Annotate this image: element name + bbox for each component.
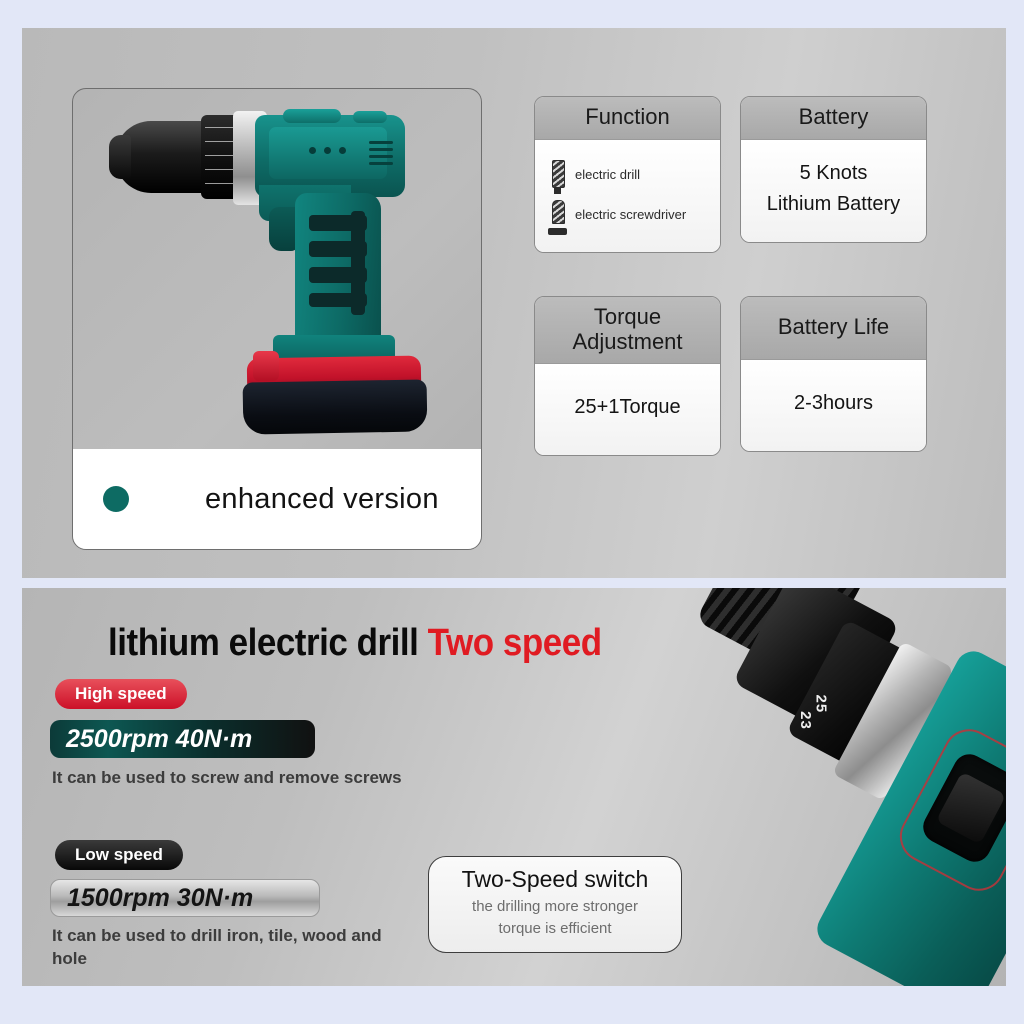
torque-value: 25+1Torque [543, 392, 712, 423]
infographic-canvas: enhanced version Function electric drill [0, 0, 1024, 1024]
drill-body-top-ridge [283, 109, 341, 123]
battery-value-line-2: Lithium Battery [749, 189, 918, 220]
two-speed-callout: Two-Speed switch the drilling more stron… [428, 856, 682, 953]
function-label-screwdriver: electric screwdriver [575, 207, 686, 222]
drill-bit-icon [549, 160, 565, 190]
low-speed-spec-pill: 1500rpm 30N·m [50, 879, 320, 917]
spec-card-battery[interactable]: Battery 5 Knots Lithium Battery [740, 96, 927, 243]
version-badge-dot [103, 486, 129, 512]
low-speed-badge: Low speed [55, 840, 183, 870]
battery-value-line-1: 5 Knots [749, 158, 918, 189]
spec-card-battery-life[interactable]: Battery Life 2-3hours [740, 296, 927, 452]
callout-subtitle-line2: torque is efficient [439, 918, 671, 940]
function-label-drill: electric drill [575, 167, 640, 182]
headline-black-text: lithium electric drill [108, 622, 428, 664]
headline-red-text: Two speed [428, 622, 602, 664]
spec-card-torque-title: Torque Adjustment [535, 297, 720, 364]
spec-card-torque-title-line2: Adjustment [572, 329, 682, 354]
cordless-drill-illustration [73, 89, 481, 449]
function-row-screwdriver: electric screwdriver [549, 200, 710, 230]
top-panel: enhanced version Function electric drill [22, 28, 1006, 578]
version-badge-label: enhanced version [205, 483, 439, 516]
spec-card-battery-life-title: Battery Life [741, 297, 926, 360]
spec-card-battery-body: 5 Knots Lithium Battery [741, 140, 926, 242]
spec-card-battery-life-body: 2-3hours [741, 360, 926, 451]
spec-card-function-title: Function [535, 97, 720, 140]
spec-card-function[interactable]: Function electric drill electric screwdr… [534, 96, 721, 253]
product-photo-card: enhanced version [72, 88, 482, 550]
product-photo [73, 89, 481, 449]
callout-title: Two-Speed switch [439, 866, 671, 893]
high-speed-description: It can be used to screw and remove screw… [52, 767, 402, 790]
low-speed-description: It can be used to drill iron, tile, wood… [52, 925, 402, 971]
spec-card-torque-title-line1: Torque [594, 304, 661, 329]
high-speed-badge: High speed [55, 679, 187, 709]
drill-vent-slots [369, 141, 395, 167]
spec-card-torque-body: 25+1Torque [535, 364, 720, 455]
screwdriver-bit-icon [549, 200, 565, 230]
drill-chuck-tip [109, 135, 131, 179]
dial-mark-23: 23 [797, 711, 814, 730]
drill-grip-spine [351, 211, 365, 315]
spec-card-function-body: electric drill electric screwdriver [535, 140, 720, 252]
drill-vent-dots [309, 147, 355, 155]
dial-mark-25: 25 [813, 695, 830, 714]
high-speed-spec-pill: 2500rpm 40N·m [50, 720, 315, 758]
callout-subtitle-line1: the drilling more stronger [439, 896, 671, 918]
function-row-drill: electric drill [549, 160, 710, 190]
spec-card-torque[interactable]: Torque Adjustment 25+1Torque [534, 296, 721, 456]
battery-pack [243, 379, 428, 434]
drill-body-top-ridge-2 [353, 111, 387, 123]
battery-life-value: 2-3hours [749, 388, 918, 419]
bottom-headline: lithium electric drill Two speed [108, 622, 602, 665]
version-badge-bar: enhanced version [73, 449, 481, 549]
battery-release-tab [253, 351, 279, 381]
spec-card-battery-title: Battery [741, 97, 926, 140]
